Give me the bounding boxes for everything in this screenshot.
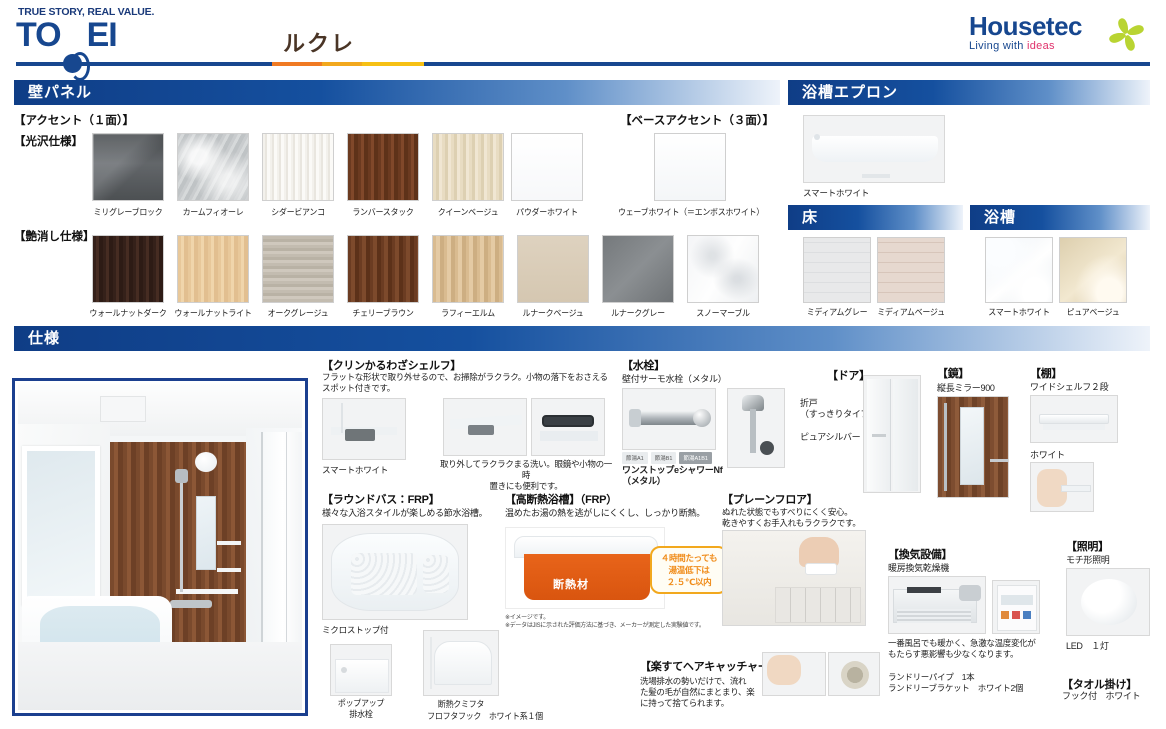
photo-shelf-main[interactable]: [322, 398, 406, 460]
photo-popup-drain-label: ポップアップ 排水栓: [321, 698, 401, 720]
photo-hair-catcher-hand[interactable]: [762, 652, 826, 696]
photo-insulated-tub[interactable]: [505, 527, 665, 609]
photo-hair-catcher-drain[interactable]: [828, 652, 880, 696]
section-header-bathtub: 浴槽: [970, 205, 1150, 230]
label-accent-one-face: 【アクセント（１面）】: [14, 112, 134, 128]
swatch-gloss-4[interactable]: [347, 133, 419, 201]
spec-insulated-title: 【高断熱浴槽】（FRP）: [505, 491, 617, 507]
photo-insulated-lid[interactable]: [423, 630, 499, 696]
label-matte-finish: 【艶消し仕様】: [14, 228, 95, 244]
photo-shelf-detail-note: 取り外してラクラクまる洗い。眼鏡や小物の一時 置きにも便利です。: [440, 459, 612, 492]
photo-round-bath[interactable]: [322, 524, 468, 620]
photo-wide-shelf[interactable]: [1030, 395, 1118, 443]
swatch-matte-3[interactable]: [262, 235, 334, 303]
photo-tub-apron-label: スマートホワイト: [803, 187, 869, 199]
photo-shelf-main-label: スマートホワイト: [322, 464, 388, 476]
swatch-floor-1-label: ミディアムグレー: [800, 306, 874, 318]
section-header-tub-apron: 浴槽エプロン: [788, 80, 1150, 105]
photo-lighting[interactable]: [1066, 568, 1150, 636]
swatch-matte-5[interactable]: [432, 235, 504, 303]
spec-faucet-shower-label: ワンストップeシャワーNf （メタル）: [622, 465, 730, 487]
spec-roundbath-desc: 様々な入浴スタイルが楽しめる節水浴槽。: [322, 508, 487, 519]
insulation-callout: ４時間たっても 湯温低下は ２.５℃以内: [650, 546, 728, 594]
spec-shelfrack-title: 【棚】: [1030, 365, 1062, 381]
swatch-gloss-6[interactable]: [511, 133, 583, 201]
photo-shelf-detail-1[interactable]: [443, 398, 527, 456]
housetec-name: Housetec: [969, 12, 1082, 40]
page-header: TRUE STORY, REAL VALUE. TOEI ルクレ Housete…: [0, 0, 1166, 68]
section-header-spec: 仕様: [14, 326, 1150, 351]
swatch-matte-2[interactable]: [177, 235, 249, 303]
spec-door-color: ピュアシルバー: [800, 432, 860, 443]
bathroom-render-inner: [18, 384, 302, 710]
swatch-matte-8[interactable]: [687, 235, 759, 303]
housetec-sub-2: ideas: [1027, 40, 1055, 52]
photo-insulated-lid-label: 断熱クミフタ: [423, 698, 499, 710]
swatch-matte-6[interactable]: [517, 235, 589, 303]
spec-haircatcher-desc: 洗場排水の勢いだけで、流れ た髪の毛が自然にまとまり、楽 に持って捨てられます。: [640, 676, 756, 709]
spec-haircatcher-title: 【楽すてヘアキャッチャー】: [640, 658, 779, 674]
section-header-floor: 床: [788, 205, 963, 230]
faucet-badge-2: 節湯B1: [651, 452, 677, 464]
insulation-callout-text: ４時間たっても 湯温低下は ２.５℃以内: [661, 553, 718, 587]
swatch-bathtub-2[interactable]: [1059, 237, 1127, 303]
swatch-gloss-2[interactable]: [177, 133, 249, 201]
photo-ventilation-remote[interactable]: [992, 580, 1040, 634]
photo-plain-floor[interactable]: [722, 530, 866, 626]
photo-ventilation-unit[interactable]: [888, 576, 986, 634]
label-base-accent-three-face: 【ベースアクセント（３面）】: [620, 112, 774, 128]
photo-shelf-detail-2[interactable]: [531, 398, 605, 456]
swatch-gloss-5[interactable]: [432, 133, 504, 201]
spec-towel-name: フック付 ホワイト: [1062, 691, 1140, 702]
housetec-sub: Living with ideas: [969, 40, 1082, 52]
swatch-matte-4[interactable]: [347, 235, 419, 303]
spec-faucet-subtitle: 壁付サーモ水栓（メタル）: [622, 374, 726, 385]
spec-ventilation-title: 【換気設備】: [888, 546, 952, 562]
swatch-gloss-6-label: パウダーホワイト: [480, 206, 614, 218]
photo-insulated-lid-label2: フロフタフック ホワイト系１個: [406, 710, 564, 722]
insulation-badge: 断熱材: [553, 576, 589, 592]
spec-lighting-spec: LED １灯: [1066, 641, 1109, 652]
page-title: ルクレ: [283, 26, 355, 58]
spec-laundry-bracket: ランドリーブラケット ホワイト2個: [888, 683, 1023, 694]
swatch-floor-2[interactable]: [877, 237, 945, 303]
spec-faucet-title: 【水栓】: [622, 357, 665, 373]
faucet-badge-1: 節湯A1: [622, 452, 648, 464]
pinwheel-icon: [1104, 14, 1150, 54]
spec-shelf-title: 【クリンかるわざシェルフ】: [322, 357, 461, 373]
faucet-badge-3: 節湯A1B1: [679, 452, 711, 464]
label-gloss-finish: 【光沢仕様】: [14, 133, 83, 149]
spec-roundbath-title: 【ラウンドバス：FRP】: [322, 491, 439, 507]
photo-wide-shelf-hand[interactable]: [1030, 462, 1094, 512]
spec-shelfrack-name: ワイドシェルフ２段: [1030, 382, 1108, 393]
swatch-base-accent-1[interactable]: [654, 133, 726, 201]
header-rule-yellow: [362, 62, 424, 66]
swatch-floor-2-label: ミディアムベージュ: [872, 306, 950, 318]
bathroom-render-image[interactable]: [12, 378, 308, 716]
photo-round-bath-label: ミクロストップ付: [322, 624, 388, 636]
spec-mirror-name: 縦長ミラー900: [937, 383, 995, 394]
swatch-base-accent-1-label: ウェーブホワイト（＝エンボスホワイト）: [618, 206, 765, 218]
section-header-wall-panel: 壁パネル: [14, 80, 780, 105]
swatch-gloss-3[interactable]: [262, 133, 334, 201]
toei-logo: TOEI: [16, 18, 117, 52]
swatch-bathtub-1-label: スマートホワイト: [982, 306, 1056, 318]
photo-mirror[interactable]: [937, 396, 1009, 498]
swatch-matte-1[interactable]: [92, 235, 164, 303]
spec-ventilation-subtitle: 暖房換気乾燥機: [888, 563, 949, 574]
faucet-badges: 節湯A1 節湯B1 節湯A1B1: [622, 452, 712, 464]
header-rule-orange: [272, 62, 322, 66]
swatch-matte-7[interactable]: [602, 235, 674, 303]
photo-faucet[interactable]: [622, 388, 716, 450]
spec-mirror-title: 【鏡】: [937, 365, 969, 381]
spec-sheet-page: TRUE STORY, REAL VALUE. TOEI ルクレ Housete…: [0, 0, 1166, 729]
photo-tub-apron[interactable]: [803, 115, 945, 183]
swatch-bathtub-1[interactable]: [985, 237, 1053, 303]
swatch-bathtub-2-label: ピュアベージュ: [1056, 306, 1130, 318]
spec-lighting-title: 【照明】: [1066, 538, 1109, 554]
spec-shelfrack-color: ホワイト: [1030, 450, 1065, 461]
swatch-gloss-1[interactable]: [92, 133, 164, 201]
swatch-floor-1[interactable]: [803, 237, 871, 303]
photo-shower-head[interactable]: [727, 388, 785, 468]
header-rule-amber: [322, 62, 362, 66]
photo-popup-drain[interactable]: [330, 644, 392, 696]
header-rule: [16, 62, 1150, 66]
spec-plainfloor-title: 【プレーンフロア】: [722, 491, 817, 507]
spec-ventilation-desc: 一番風呂でも暖かく、急激な温度変化が もたらす悪影響も少なくなります。: [888, 638, 1068, 660]
spec-shelf-desc: フラットな形状で取り外せるので、お掃除がラクラク。小物の落下をおさえる スポット…: [322, 372, 622, 394]
spec-lighting-name: モチ形照明: [1066, 555, 1110, 566]
housetec-logo: Housetec Living with ideas: [969, 12, 1082, 52]
photo-door[interactable]: [863, 375, 921, 493]
housetec-sub-1: Living with: [969, 40, 1024, 52]
spec-plainfloor-desc: ぬれた状態でもすべりにくく安心。 乾きやすくお手入れもラクラクです。: [722, 507, 882, 529]
spec-insulated-note: ※イメージです。 ※データはJISに示された評価方法に基づき、メーカーが測定した…: [505, 615, 715, 630]
swatch-matte-8-label: スノーマーブル: [656, 307, 790, 319]
toei-logo-left: TO: [16, 16, 61, 54]
spec-towel-title: 【タオル掛け】: [1062, 676, 1137, 692]
spec-laundry-pipe: ランドリーパイプ 1本: [888, 672, 974, 683]
spec-insulated-desc: 温めたお湯の熱を逃がしにくくし、しっかり断熱。: [505, 508, 705, 519]
toei-logo-right: EI: [87, 16, 117, 54]
